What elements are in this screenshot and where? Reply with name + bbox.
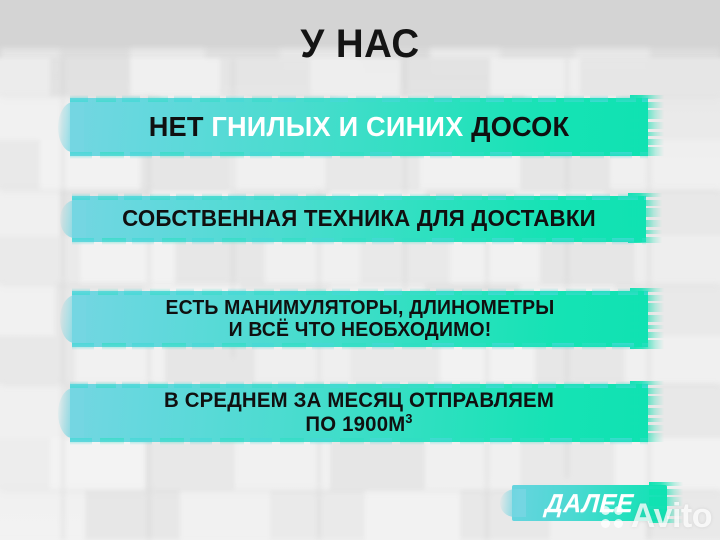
banner3-line-2: И ВСЁ ЧТО НЕОБХОДИМО! [81,319,640,341]
background-board-seams [0,0,720,540]
banner4-volume-exponent: 3 [405,411,412,426]
feature-banner-own-delivery-fleet: СОБСТВЕННАЯ ТЕХНИКА ДЛЯ ДОСТАВКИ [72,196,646,242]
banner4-line-1: В СРЕДНЕМ ЗА МЕСЯЦ ОТПРАВЛЯЕМ [79,389,640,413]
feature-banner-text: В СРЕДНЕМ ЗА МЕСЯЦ ОТПРАВЛЯЕМ ПО 1900М3 [79,389,640,436]
banner1-text-prefix: НЕТ [149,111,212,142]
feature-banner-monthly-volume: В СРЕДНЕМ ЗА МЕСЯЦ ОТПРАВЛЯЕМ ПО 1900М3 [70,384,648,442]
next-button-label: ДАЛЕЕ [544,488,634,519]
banner3-line-1: ЕСТЬ МАНИМУЛЯТОРЫ, ДЛИНОМЕТРЫ [81,297,640,319]
feature-banner-text: НЕТ ГНИЛЫХ И СИНИХ ДОСОК [79,111,640,142]
feature-banner-text: СОБСТВЕННАЯ ТЕХНИКА ДЛЯ ДОСТАВКИ [81,206,638,232]
next-button[interactable]: ДАЛЕЕ [512,485,667,521]
feature-banner-text: ЕСТЬ МАНИМУЛЯТОРЫ, ДЛИНОМЕТРЫ И ВСЁ ЧТО … [81,297,640,342]
banner4-volume-value: ПО 1900М [305,413,405,436]
lumber-stack-background [0,0,720,540]
banner2-line-1: СОБСТВЕННАЯ ТЕХНИКА ДЛЯ ДОСТАВКИ [122,205,596,231]
feature-banner-no-rotten-boards: НЕТ ГНИЛЫХ И СИНИХ ДОСОК [70,98,648,156]
page-title: У НАС [14,22,705,66]
promo-poster: У НАС НЕТ ГНИЛЫХ И СИНИХ ДОСОК СОБСТВЕНН… [0,0,720,540]
banner1-text-suffix: ДОСОК [463,111,569,142]
feature-banner-manipulators: ЕСТЬ МАНИМУЛЯТОРЫ, ДЛИНОМЕТРЫ И ВСЁ ЧТО … [72,291,648,347]
banner4-line-2: ПО 1900М3 [79,413,640,437]
banner1-text-highlight: ГНИЛЫХ И СИНИХ [211,111,463,142]
